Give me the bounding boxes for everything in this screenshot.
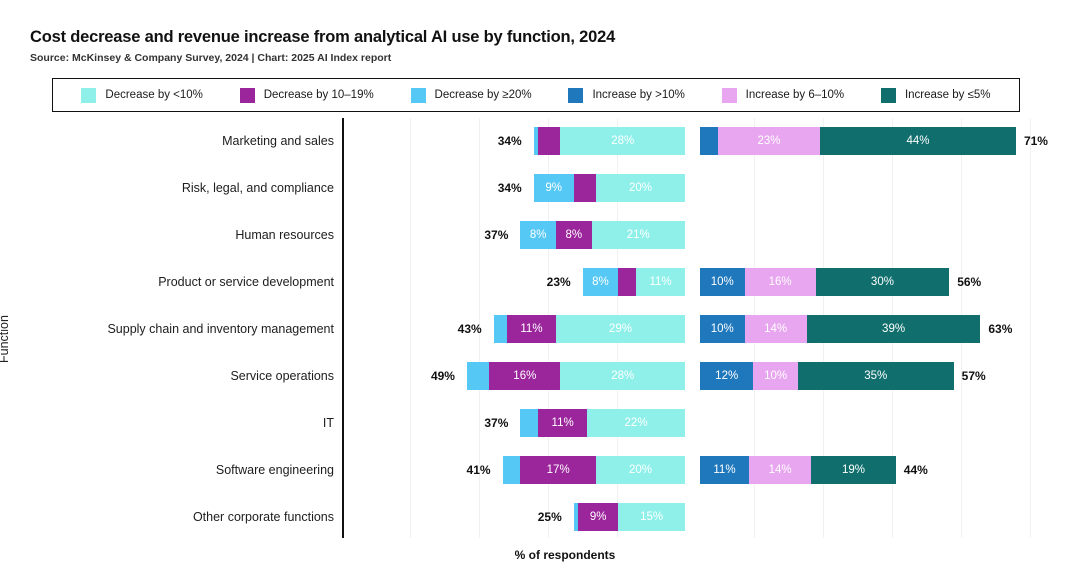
bar-segment[interactable]: 14%	[749, 456, 811, 484]
category-label: Risk, legal, and compliance	[182, 171, 334, 205]
category-label: Product or service development	[158, 265, 334, 299]
legend-item-label: Decrease by 10–19%	[264, 89, 374, 101]
legend-swatch-icon	[881, 88, 896, 103]
left-total-label: 41%	[467, 456, 491, 484]
legend-item[interactable]: Increase by ≤5%	[881, 88, 991, 103]
chart-row: Software engineering20%17%41%11%14%19%44…	[0, 453, 1080, 487]
legend-item[interactable]: Increase by >10%	[568, 88, 684, 103]
bar-segment[interactable]: 12%	[700, 362, 753, 390]
left-stacked-bar: 15%9%	[574, 503, 685, 531]
bar-segment[interactable]: 8%	[583, 268, 619, 296]
bar-segment-label: 12%	[715, 370, 738, 382]
bar-segment-label: 8%	[530, 229, 547, 241]
bar-segment-label: 10%	[711, 276, 734, 288]
bar-segment[interactable]: 9%	[578, 503, 618, 531]
bar-segment[interactable]: 14%	[745, 315, 807, 343]
legend-item-label: Increase by >10%	[592, 89, 684, 101]
left-total-label: 43%	[458, 315, 482, 343]
category-label: Marketing and sales	[222, 124, 334, 158]
bar-segment-label: 8%	[592, 276, 609, 288]
bar-segment[interactable]: 21%	[592, 221, 685, 249]
bar-segment[interactable]: 16%	[745, 268, 816, 296]
right-stacked-bar: 11%14%19%	[700, 456, 896, 484]
chart-row: IT22%11%37%	[0, 406, 1080, 440]
left-stacked-bar: 28%	[534, 127, 685, 155]
chart-row: Human resources21%8%8%37%	[0, 218, 1080, 252]
bar-segment[interactable]: 10%	[700, 268, 745, 296]
legend-swatch-icon	[240, 88, 255, 103]
legend-swatch-icon	[722, 88, 737, 103]
bar-segment-label: 39%	[882, 323, 905, 335]
bar-segment[interactable]	[574, 174, 596, 202]
category-label: Service operations	[230, 359, 334, 393]
left-total-label: 37%	[484, 409, 508, 437]
bar-segment-label: 16%	[513, 370, 536, 382]
bar-segment-label: 20%	[629, 464, 652, 476]
bar-segment-label: 16%	[769, 276, 792, 288]
bar-segment[interactable]: 8%	[556, 221, 592, 249]
bar-segment-label: 14%	[769, 464, 792, 476]
right-stacked-bar: 23%44%	[700, 127, 1016, 155]
chart-row: Product or service development11%8%23%10…	[0, 265, 1080, 299]
bar-segment-label: 44%	[907, 135, 930, 147]
bar-segment-label: 14%	[764, 323, 787, 335]
bar-segment[interactable]: 17%	[520, 456, 596, 484]
bar-segment[interactable]: 28%	[560, 362, 685, 390]
category-label: Other corporate functions	[193, 500, 334, 534]
bar-segment-label: 11%	[713, 464, 735, 476]
left-total-label: 34%	[498, 174, 522, 202]
legend-item-label: Decrease by <10%	[105, 89, 203, 101]
category-label: Software engineering	[216, 453, 334, 487]
bar-segment[interactable]: 29%	[556, 315, 685, 343]
legend-swatch-icon	[568, 88, 583, 103]
bar-segment-label: 28%	[611, 135, 634, 147]
legend-item[interactable]: Decrease by ≥20%	[411, 88, 532, 103]
bar-segment-label: 8%	[565, 229, 582, 241]
bar-segment[interactable]	[700, 127, 718, 155]
x-axis-label: % of respondents	[0, 548, 1080, 562]
bar-segment[interactable]	[503, 456, 521, 484]
bar-segment-label: 30%	[871, 276, 894, 288]
bar-segment-label: 10%	[764, 370, 787, 382]
bar-segment-label: 10%	[711, 323, 734, 335]
bar-segment[interactable]: 19%	[811, 456, 896, 484]
bar-segment-label: 17%	[547, 464, 570, 476]
chart-legend: Decrease by <10%Decrease by 10–19%Decrea…	[52, 78, 1020, 112]
left-total-label: 37%	[484, 221, 508, 249]
category-label: Supply chain and inventory management	[107, 312, 334, 346]
category-label: IT	[323, 406, 334, 440]
bar-segment[interactable]: 15%	[618, 503, 685, 531]
bar-segment[interactable]: 22%	[587, 409, 685, 437]
bar-segment[interactable]: 30%	[816, 268, 950, 296]
chart-row: Service operations28%16%49%12%10%35%57%	[0, 359, 1080, 393]
bar-segment[interactable]: 35%	[798, 362, 954, 390]
left-total-label: 23%	[547, 268, 571, 296]
legend-item-label: Decrease by ≥20%	[435, 89, 532, 101]
right-stacked-bar: 10%14%39%	[700, 315, 980, 343]
left-stacked-bar: 21%8%8%	[520, 221, 685, 249]
bar-segment-label: 28%	[611, 370, 634, 382]
right-total-label: 63%	[988, 315, 1012, 343]
bar-segment[interactable]	[467, 362, 489, 390]
chart-root: Cost decrease and revenue increase from …	[0, 0, 1080, 585]
bar-segment[interactable]: 11%	[538, 409, 587, 437]
left-stacked-bar: 22%11%	[520, 409, 685, 437]
right-stacked-bar: 12%10%35%	[700, 362, 954, 390]
bar-segment-label: 11%	[649, 276, 671, 288]
legend-swatch-icon	[81, 88, 96, 103]
bar-segment[interactable]: 16%	[489, 362, 560, 390]
legend-item[interactable]: Decrease by <10%	[81, 88, 203, 103]
bar-segment[interactable]: 39%	[807, 315, 981, 343]
left-stacked-bar: 29%11%	[494, 315, 685, 343]
left-stacked-bar: 20%17%	[503, 456, 685, 484]
bar-segment[interactable]	[494, 315, 507, 343]
chart-row: Risk, legal, and compliance20%9%34%	[0, 171, 1080, 205]
x-axis-label-text: % of respondents	[515, 548, 616, 562]
bar-segment-label: 9%	[545, 182, 562, 194]
bar-segment-label: 9%	[590, 511, 607, 523]
right-total-label: 71%	[1024, 127, 1048, 155]
bar-segment-label: 21%	[627, 229, 650, 241]
bar-segment-label: 35%	[864, 370, 887, 382]
bar-segment-label: 20%	[629, 182, 652, 194]
bar-segment[interactable]: 11%	[507, 315, 556, 343]
left-stacked-bar: 28%16%	[467, 362, 685, 390]
category-label: Human resources	[235, 218, 334, 252]
bar-segment-label: 11%	[552, 417, 574, 429]
left-total-label: 49%	[431, 362, 455, 390]
bar-segment[interactable]: 11%	[700, 456, 749, 484]
bar-segment[interactable]: 20%	[596, 456, 685, 484]
right-stacked-bar: 10%16%30%	[700, 268, 949, 296]
bar-segment[interactable]: 9%	[534, 174, 574, 202]
left-stacked-bar: 20%9%	[534, 174, 685, 202]
chart-source-subtitle: Source: McKinsey & Company Survey, 2024 …	[30, 52, 391, 64]
legend-item[interactable]: Decrease by 10–19%	[240, 88, 374, 103]
bar-segment[interactable]: 10%	[700, 315, 745, 343]
legend-item-label: Increase by ≤5%	[905, 89, 991, 101]
bar-segment[interactable]	[520, 409, 538, 437]
chart-row: Supply chain and inventory management29%…	[0, 312, 1080, 346]
bar-segment[interactable]: 11%	[636, 268, 685, 296]
chart-row: Marketing and sales28%34%23%44%71%	[0, 124, 1080, 158]
bar-segment[interactable]	[618, 268, 636, 296]
chart-row: Other corporate functions15%9%25%	[0, 500, 1080, 534]
bar-segment[interactable]: 8%	[520, 221, 556, 249]
bar-segment[interactable]: 20%	[596, 174, 685, 202]
bar-segment-label: 23%	[757, 135, 780, 147]
bar-segment-label: 19%	[842, 464, 865, 476]
right-total-label: 56%	[957, 268, 981, 296]
bar-segment-label: 22%	[625, 417, 648, 429]
bar-segment[interactable]: 10%	[753, 362, 798, 390]
bar-segment-label: 29%	[609, 323, 632, 335]
legend-swatch-icon	[411, 88, 426, 103]
right-total-label: 57%	[962, 362, 986, 390]
bar-segment-label: 15%	[640, 511, 663, 523]
bar-segment[interactable]: 23%	[718, 127, 820, 155]
bar-segment[interactable]	[538, 127, 560, 155]
right-total-label: 44%	[904, 456, 928, 484]
left-total-label: 34%	[498, 127, 522, 155]
chart-plot-area: Function % of respondents Marketing and …	[0, 118, 1080, 543]
left-stacked-bar: 11%8%	[583, 268, 685, 296]
bar-segment-label: 11%	[520, 323, 542, 335]
legend-item-label: Increase by 6–10%	[746, 89, 844, 101]
bar-segment[interactable]: 44%	[820, 127, 1016, 155]
page-title: Cost decrease and revenue increase from …	[30, 28, 615, 47]
legend-item[interactable]: Increase by 6–10%	[722, 88, 844, 103]
left-total-label: 25%	[538, 503, 562, 531]
bar-segment[interactable]: 28%	[560, 127, 685, 155]
